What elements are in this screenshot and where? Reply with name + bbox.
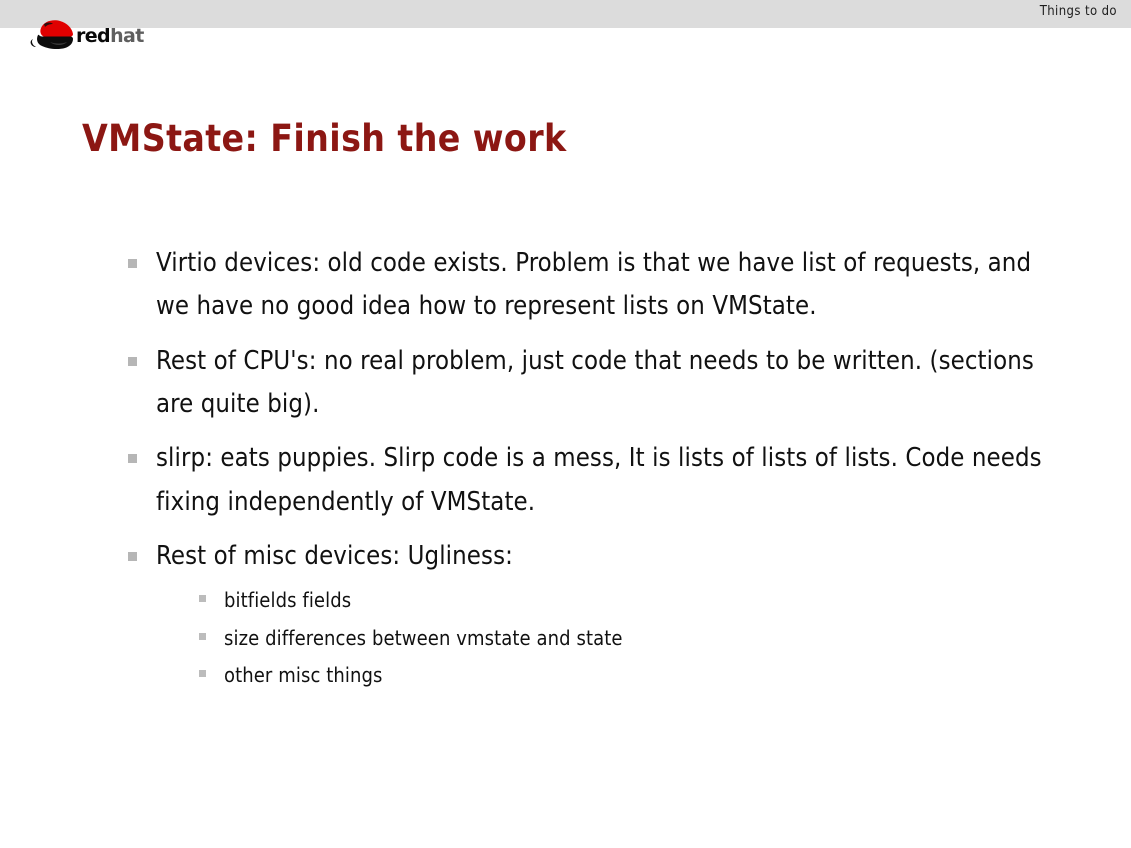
list-item: slirp: eats puppies. Slirp code is a mes… (126, 437, 1056, 524)
slide: Things to do redhat VMState: Finish the … (0, 0, 1131, 848)
sub-bullet-list: bitfields fields size differences betwee… (156, 582, 1056, 693)
bullet-square-icon (128, 552, 137, 561)
sub-bullet-text: other misc things (224, 663, 383, 687)
redhat-logo: redhat (28, 18, 144, 54)
list-item: other misc things (198, 657, 1056, 693)
bullet-square-icon (199, 670, 206, 677)
list-item: Virtio devices: old code exists. Problem… (126, 242, 1056, 329)
bullet-square-icon (199, 595, 206, 602)
bullet-text: Rest of misc devices: Ugliness: (156, 541, 513, 571)
redhat-wordmark-red: red (76, 25, 110, 47)
list-item: Rest of misc devices: Ugliness: bitfield… (126, 535, 1056, 694)
sub-bullet-text: size differences between vmstate and sta… (224, 626, 623, 650)
bullet-square-icon (199, 633, 206, 640)
redhat-wordmark: redhat (76, 27, 144, 46)
bullet-square-icon (128, 454, 137, 463)
bullet-text: Virtio devices: old code exists. Problem… (156, 248, 1031, 321)
header-band: Things to do (0, 0, 1131, 28)
list-item: Rest of CPU's: no real problem, just cod… (126, 340, 1056, 427)
bullet-square-icon (128, 259, 137, 268)
list-item: size differences between vmstate and sta… (198, 620, 1056, 656)
running-title: Things to do (1040, 4, 1117, 19)
list-item: bitfields fields (198, 582, 1056, 618)
bullet-square-icon (128, 357, 137, 366)
bullet-text: Rest of CPU's: no real problem, just cod… (156, 346, 1034, 419)
slide-body: Virtio devices: old code exists. Problem… (126, 242, 1056, 705)
bullet-list: Virtio devices: old code exists. Problem… (126, 242, 1056, 694)
redhat-shadowman-icon (28, 19, 80, 53)
bullet-text: slirp: eats puppies. Slirp code is a mes… (156, 443, 1042, 516)
redhat-wordmark-hat: hat (110, 25, 144, 47)
sub-bullet-text: bitfields fields (224, 588, 351, 612)
page-title: VMState: Finish the work (82, 118, 567, 159)
